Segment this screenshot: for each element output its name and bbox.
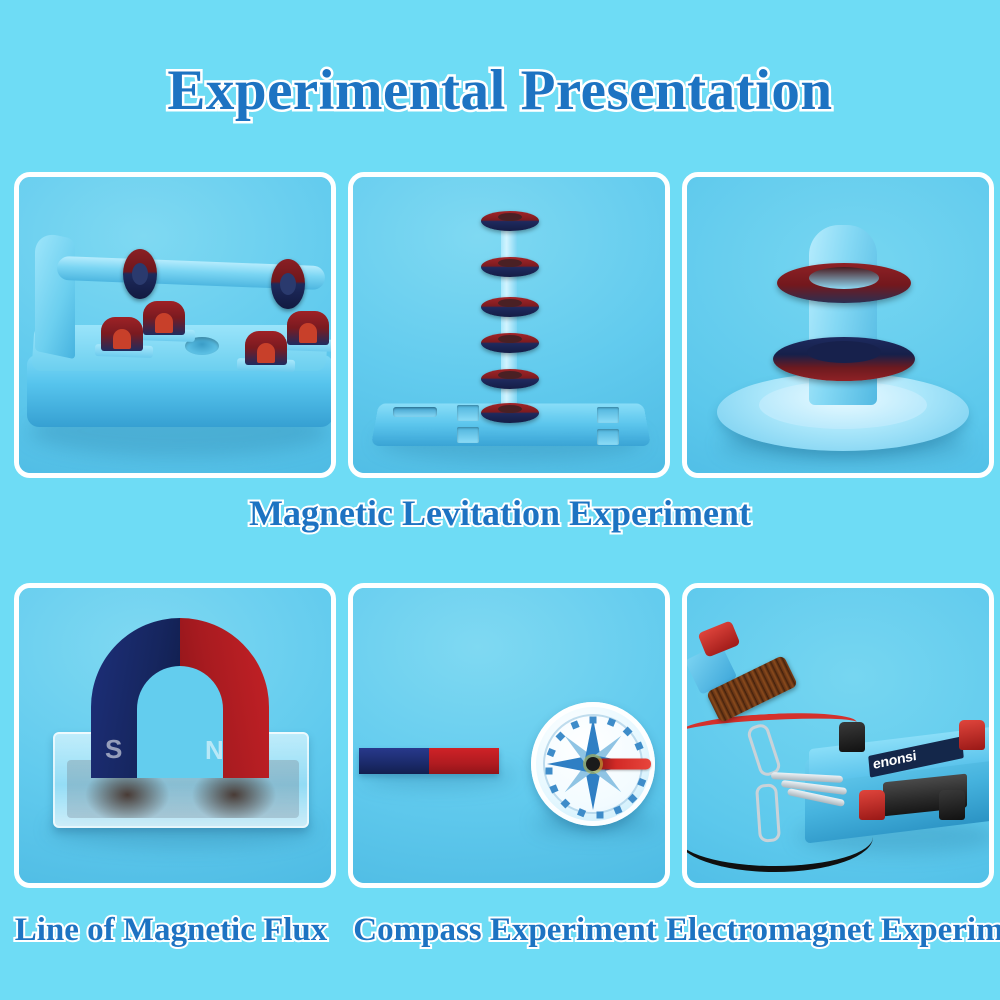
ring-magnet	[481, 403, 539, 423]
panel-spindle-levitation	[682, 172, 994, 478]
ring-magnet	[481, 211, 539, 231]
ring-magnet	[481, 297, 539, 317]
ring-magnet	[481, 333, 539, 353]
upright-support	[35, 231, 75, 360]
scene-electromagnet: enonsi	[687, 588, 989, 883]
bar-magnet-south	[359, 748, 429, 774]
saddle-magnet	[143, 301, 185, 335]
page-title: Experimental Presentation	[0, 58, 1000, 123]
saddle-magnet	[245, 331, 287, 365]
compass-rose-tick	[590, 717, 597, 724]
panel-stacked-ring-magnets	[348, 172, 670, 478]
terminal-post-red[interactable]	[959, 720, 985, 750]
compass-rose-tick	[628, 794, 638, 804]
scene-magnetic-flux: S N	[19, 588, 331, 883]
ring-magnet-upper-hole	[809, 267, 879, 289]
compass-rose-tick	[549, 784, 558, 793]
scene-spindle-levitation	[687, 177, 989, 473]
base-slot	[457, 427, 479, 443]
scene-compass	[353, 588, 665, 883]
pole-label-n: N	[205, 734, 224, 765]
panel-electromagnet-experiment: enonsi	[682, 583, 994, 888]
base-slot	[597, 429, 619, 445]
saddle-magnet	[287, 311, 329, 345]
compass-rose-tick	[577, 808, 586, 817]
ring-magnet	[271, 259, 305, 309]
terminal-post-black[interactable]	[839, 722, 865, 752]
compass	[531, 702, 655, 826]
base-slot	[393, 407, 437, 417]
compass-rose-tick	[613, 805, 622, 814]
base-slot	[457, 405, 479, 421]
bar-magnet	[359, 748, 499, 774]
compass-pivot	[586, 757, 600, 771]
compass-rose-tick	[597, 812, 604, 819]
compass-rose-tick	[607, 718, 616, 727]
compass-rose-tick	[623, 726, 633, 736]
base-slot	[597, 407, 619, 423]
caption-compass-experiment: Compass Experiment	[340, 912, 670, 949]
compass-face	[543, 714, 643, 814]
scene-stacked-rings	[353, 177, 665, 473]
compass-rose-tick	[546, 768, 553, 775]
scene-axle-levitation	[19, 177, 331, 473]
saddle-magnet	[101, 317, 143, 351]
ring-magnet	[123, 249, 157, 299]
compass-rose-tick	[571, 720, 580, 729]
panel-axle-levitation	[14, 172, 336, 478]
compass-rose-tick	[637, 778, 646, 787]
terminal-post-red[interactable]	[859, 790, 885, 820]
pole-label-s: S	[105, 734, 122, 765]
caption-magnetic-levitation: Magnetic Levitation Experiment	[0, 492, 1000, 534]
caption-line-of-magnetic-flux: Line of Magnetic Flux	[6, 912, 336, 949]
compass-rose-tick	[634, 742, 643, 751]
bar-magnet-north	[429, 748, 499, 774]
caption-electromagnet-experiment: Electromagnet Experiment	[666, 912, 1000, 949]
terminal-post-black[interactable]	[939, 790, 965, 820]
compass-needle	[593, 759, 651, 770]
panel-line-of-magnetic-flux: S N	[14, 583, 336, 888]
panel-compass-experiment	[348, 583, 670, 888]
compass-rose-tick	[560, 799, 570, 809]
ring-magnet	[481, 369, 539, 389]
black-lead-wire	[682, 802, 873, 872]
ring-magnet-lower-hole	[807, 341, 881, 363]
ring-magnet	[481, 257, 539, 277]
